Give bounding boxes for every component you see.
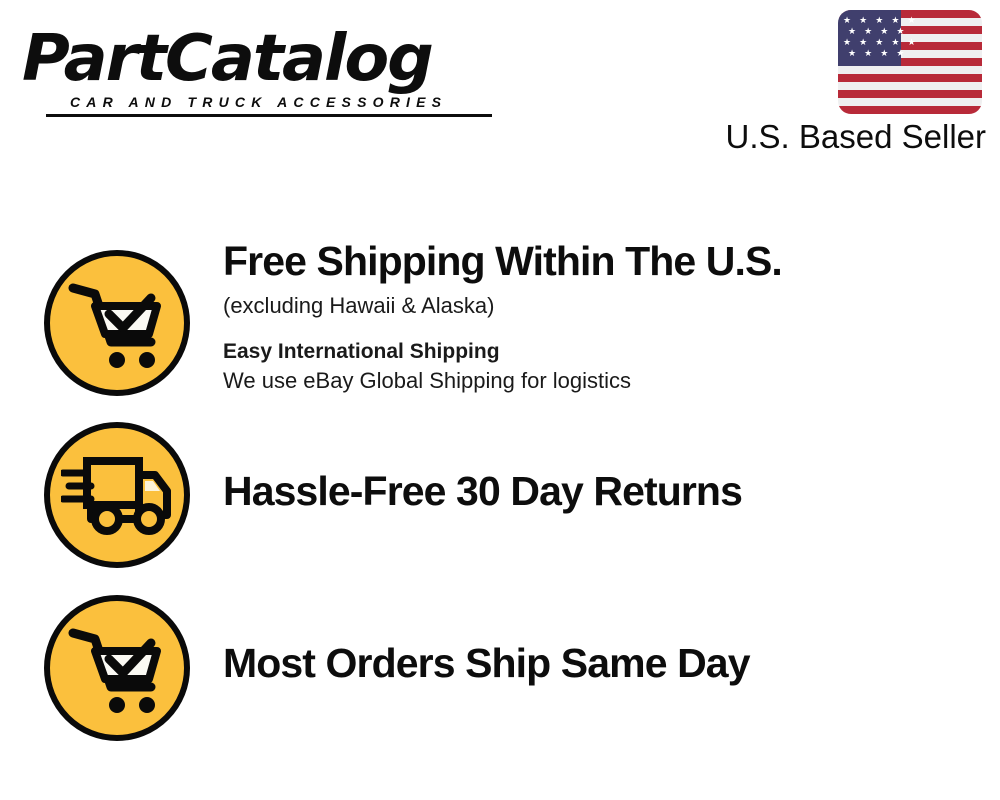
feature-text-block: Free Shipping Within The U.S. (excluding… xyxy=(223,238,983,395)
shopping-cart-check-icon xyxy=(44,250,190,396)
brand-underline-rule xyxy=(46,114,492,117)
feature-text-block: Most Orders Ship Same Day xyxy=(223,640,983,686)
flag-star-row: ★ ★ ★ ★ xyxy=(843,27,901,38)
feature-heading: Free Shipping Within The U.S. xyxy=(223,238,983,284)
flag-star-row: ★ ★ ★ ★ ★ xyxy=(843,38,901,49)
shopping-cart-check-icon xyxy=(44,595,190,741)
feature-subtext-international-detail: We use eBay Global Shipping for logistic… xyxy=(223,367,983,395)
flag-stars: ★ ★ ★ ★ ★ ★ ★ ★ ★ ★ ★ ★ ★ ★ ★ ★ ★ ★ xyxy=(838,10,901,66)
feature-subtext-exclusion: (excluding Hawaii & Alaska) xyxy=(223,292,983,320)
feature-icon-wrapper xyxy=(44,422,190,568)
delivery-truck-icon xyxy=(44,422,190,568)
feature-text-block: Hassle-Free 30 Day Returns xyxy=(223,468,983,514)
feature-icon-wrapper xyxy=(44,595,190,741)
promo-banner: PartCatalog CAR AND TRUCK ACCESSORIES ★ … xyxy=(0,0,1000,800)
brand-logo: PartCatalog CAR AND TRUCK ACCESSORIES xyxy=(22,24,492,116)
flag-star-row: ★ ★ ★ ★ xyxy=(843,49,901,60)
us-based-seller-badge: ★ ★ ★ ★ ★ ★ ★ ★ ★ ★ ★ ★ ★ ★ ★ ★ ★ ★ U.S.… xyxy=(714,10,986,156)
brand-wordmark: PartCatalog xyxy=(22,24,432,94)
brand-tagline: CAR AND TRUCK ACCESSORIES xyxy=(70,94,447,110)
seller-badge-label: U.S. Based Seller xyxy=(714,118,986,156)
feature-icon-wrapper xyxy=(44,250,190,396)
flag-star-row: ★ ★ ★ ★ ★ xyxy=(843,16,901,27)
feature-subtext-international-title: Easy International Shipping xyxy=(223,338,983,366)
feature-heading: Hassle-Free 30 Day Returns xyxy=(223,468,983,514)
feature-heading: Most Orders Ship Same Day xyxy=(223,640,983,686)
us-flag-icon: ★ ★ ★ ★ ★ ★ ★ ★ ★ ★ ★ ★ ★ ★ ★ ★ ★ ★ xyxy=(838,10,982,114)
